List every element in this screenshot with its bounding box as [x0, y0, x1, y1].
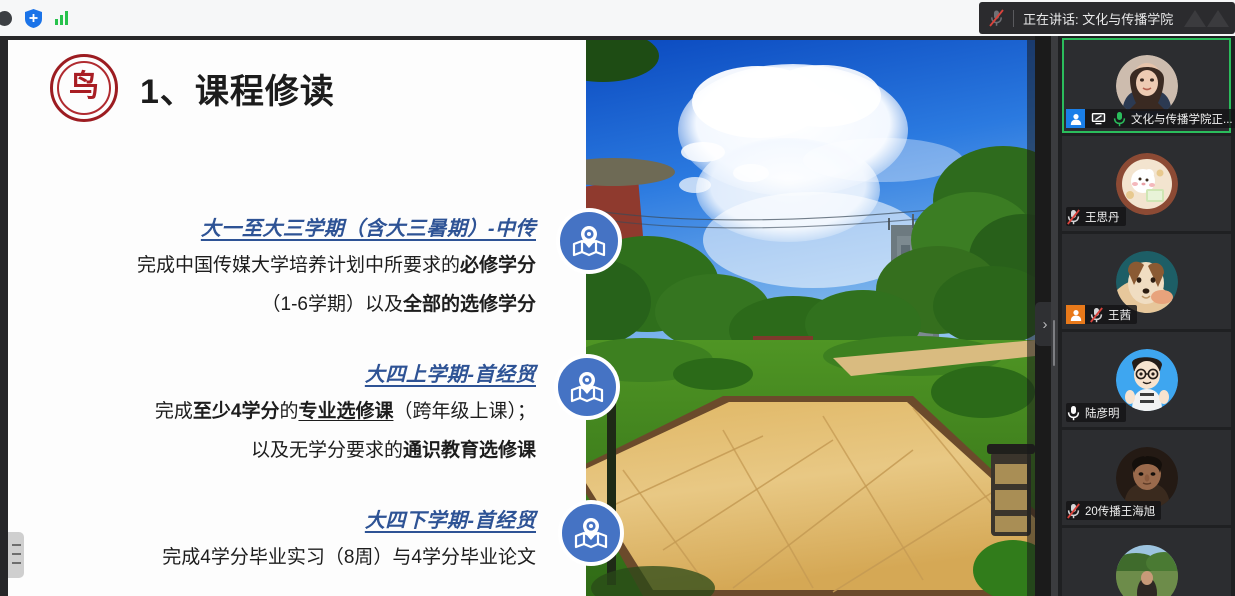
toolbar-icon-group: [0, 9, 68, 28]
content-block-1: 大一至大三学期（含大三暑期）-中传 完成中国传媒大学培养计划中所要求的必修学分 …: [36, 212, 536, 318]
participant-namebar: 王茜: [1066, 305, 1137, 324]
block-1-line-2-emphasis: 全部的选修学分: [403, 294, 536, 315]
double-chevron-icon[interactable]: [1182, 10, 1229, 27]
mic-off-icon: [1066, 502, 1081, 519]
block-2-line-2-text-a: 以及无学分要求的: [251, 440, 403, 461]
presentation-slide: 鸟 1、课程修读 大一至大三学期（含大三暑期）-中传 完成中国传媒大学培养计划中…: [8, 40, 1035, 596]
speaking-label: 正在讲话: 文化与传播学院;: [1023, 9, 1173, 28]
shield-plus-icon[interactable]: [25, 9, 42, 28]
university-logo-icon: 鸟: [50, 54, 118, 122]
participant-name: 20传播王海旭: [1085, 503, 1155, 519]
block-1-line-1-emphasis: 必修学分: [460, 255, 536, 276]
block-2-heading: 大四上学期-首经贸: [36, 358, 536, 387]
screen-share-icon: [1089, 109, 1108, 128]
content-block-3: 大四下学期-首经贸 完成4学分毕业实习（8周）与4学分毕业论文: [36, 504, 536, 572]
block-2-line-1-text-c: （跨年级上课）；: [393, 401, 536, 422]
top-toolbar: 正在讲话: 文化与传播学院;: [0, 0, 1235, 36]
host-icon: [1066, 109, 1085, 128]
block-3-heading: 大四下学期-首经贸: [36, 504, 536, 533]
block-2-line-1-emphasis-a: 至少4学分: [193, 401, 280, 422]
block-2-line-1-text-b: 的: [279, 401, 298, 422]
participant-tile[interactable]: 文化与传播学院正...: [1062, 38, 1231, 133]
chevron-right-icon: ›: [1043, 317, 1048, 332]
block-1-line-1-text-a: 完成中国传媒大学培养计划中所要求的: [137, 255, 460, 276]
participant-name: 王茜: [1108, 307, 1131, 323]
slide-header: 鸟 1、课程修读: [50, 54, 335, 122]
page-title: 1、课程修读: [140, 64, 335, 113]
signal-bars-icon: [55, 11, 68, 25]
participant-namebar: 20传播王海旭: [1066, 501, 1161, 520]
campus-photo: [583, 40, 1035, 596]
now-speaking-indicator[interactable]: 正在讲话: 文化与传播学院;: [979, 2, 1235, 34]
cohost-icon: [1066, 305, 1085, 324]
map-pin-icon: [554, 354, 620, 420]
block-2-line-2-emphasis: 通识教育选修课: [403, 440, 536, 461]
divider: [1013, 10, 1014, 27]
participant-rail[interactable]: 文化与传播学院正...: [1058, 36, 1235, 596]
block-2-line-2: 以及无学分要求的通识教育选修课: [36, 437, 536, 465]
avatar: [1116, 349, 1178, 411]
participant-tile[interactable]: 王思丹: [1062, 136, 1231, 231]
participant-name: 陆彦明: [1085, 405, 1120, 421]
participant-name: 文化与传播学院正...: [1131, 111, 1233, 127]
participant-tile[interactable]: [1062, 528, 1231, 596]
avatar: [1116, 153, 1178, 215]
block-2-line-1-text-a: 完成: [155, 401, 193, 422]
block-2-line-1: 完成至少4学分的专业选修课（跨年级上课）；: [36, 398, 536, 426]
block-2-line-1-emphasis-b: 专业选修课: [298, 401, 393, 422]
left-drawer-handle[interactable]: [8, 532, 24, 578]
avatar: [1116, 447, 1178, 509]
participant-namebar: 文化与传播学院正...: [1066, 109, 1235, 128]
block-1-line-1: 完成中国传媒大学培养计划中所要求的必修学分: [36, 252, 536, 280]
participant-tile[interactable]: 王茜: [1062, 234, 1231, 329]
avatar: [1116, 251, 1178, 313]
block-1-line-2-text-a: （1-6学期）以及: [262, 294, 403, 315]
block-1-heading: 大一至大三学期（含大三暑期）-中传: [36, 212, 536, 241]
mic-on-icon: [1066, 404, 1081, 421]
block-1-line-2: （1-6学期）以及全部的选修学分: [36, 291, 536, 319]
participant-name: 王思丹: [1085, 209, 1120, 225]
participant-tile[interactable]: 陆彦明: [1062, 332, 1231, 427]
participant-namebar: 王思丹: [1066, 207, 1126, 226]
participant-namebar: 陆彦明: [1066, 403, 1126, 422]
panel-splitter[interactable]: [1051, 36, 1058, 596]
map-pin-icon: [556, 208, 622, 274]
content-block-2: 大四上学期-首经贸 完成至少4学分的专业选修课（跨年级上课）； 以及无学分要求的…: [36, 358, 536, 464]
meeting-screen-share-window: 正在讲话: 文化与传播学院;: [0, 0, 1235, 596]
map-pin-icon: [558, 500, 624, 566]
avatar: [1116, 545, 1178, 596]
block-3-line-1: 完成4学分毕业实习（8周）与4学分毕业论文: [36, 544, 536, 572]
profile-dot-icon[interactable]: [0, 11, 12, 26]
participant-tile[interactable]: 20传播王海旭: [1062, 430, 1231, 525]
mic-off-icon: [1089, 306, 1104, 323]
mic-off-icon: [989, 9, 1004, 27]
mic-off-icon: [1066, 208, 1081, 225]
mic-on-icon: [1112, 110, 1127, 127]
avatar: [1116, 55, 1178, 117]
shared-screen-stage: 鸟 1、课程修读 大一至大三学期（含大三暑期）-中传 完成中国传媒大学培养计划中…: [0, 36, 1035, 596]
